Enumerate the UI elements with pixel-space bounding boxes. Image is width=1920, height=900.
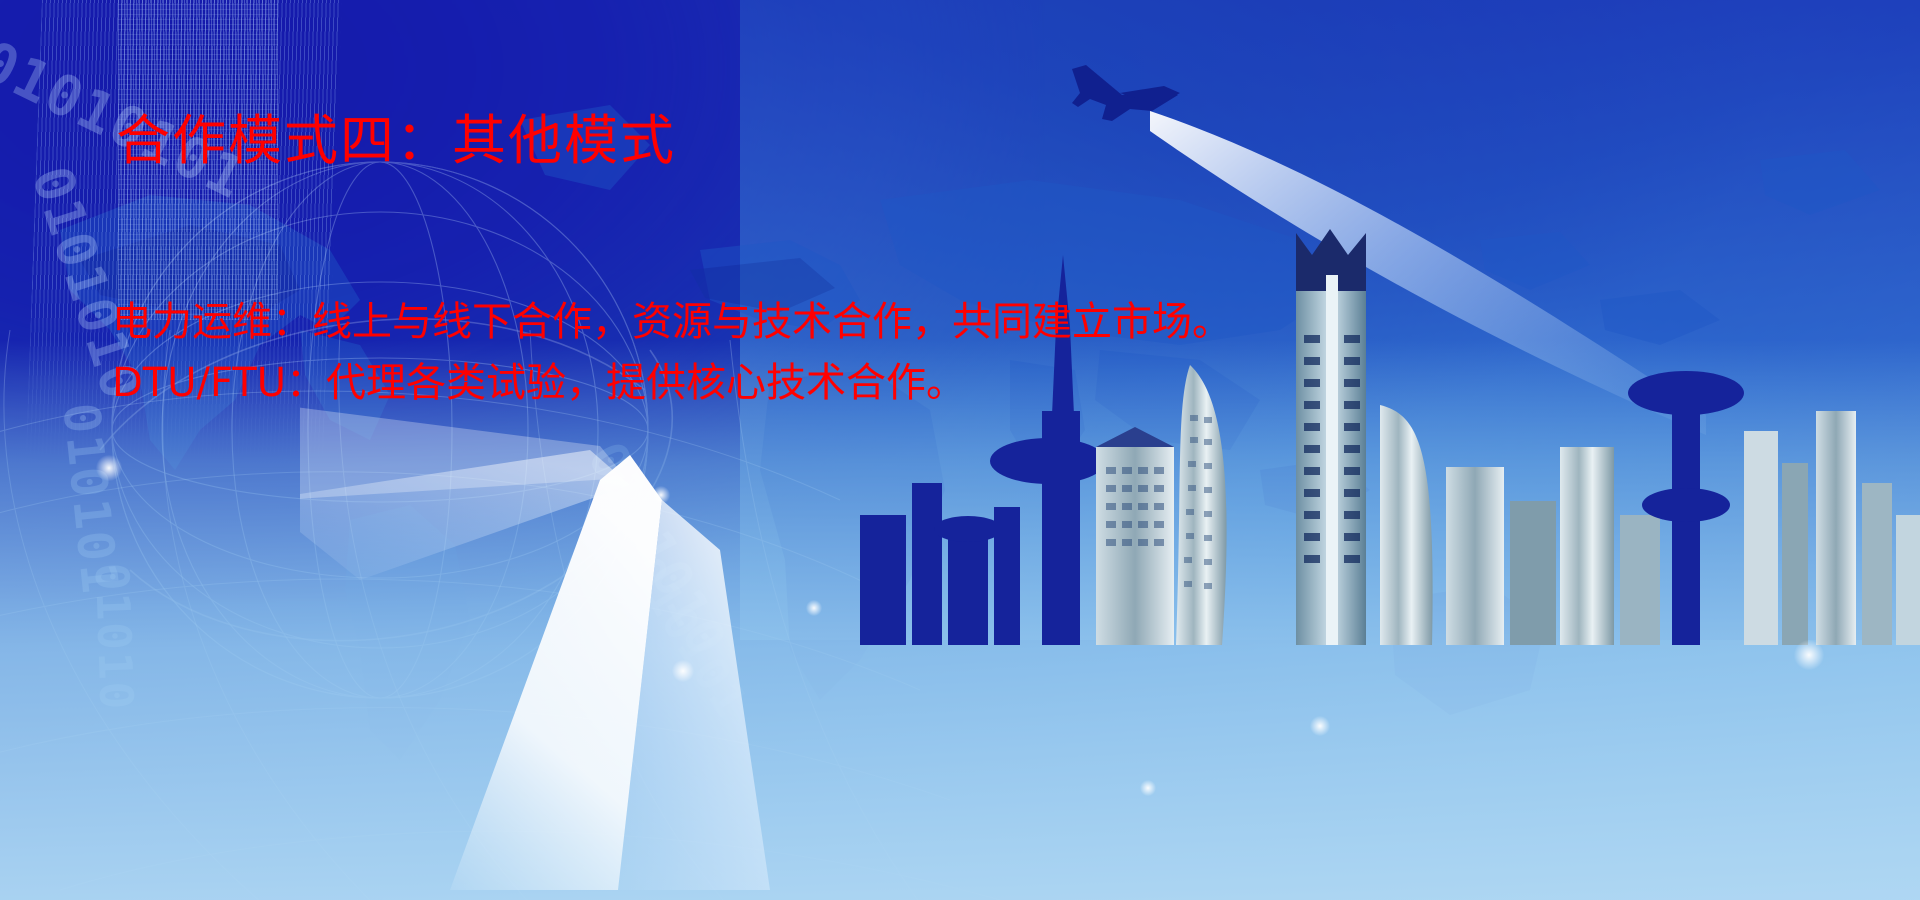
bokeh-dot bbox=[1794, 640, 1824, 670]
body-line-2: DTU/FTU：代理各类试验，提供核心技术合作。 bbox=[112, 353, 1232, 414]
cityscape-skyline-graphic bbox=[860, 215, 1920, 645]
airplane-icon bbox=[1060, 55, 1190, 135]
bokeh-dot bbox=[1140, 780, 1156, 796]
bokeh-dot bbox=[96, 455, 122, 481]
bokeh-dot bbox=[1310, 716, 1330, 736]
slide-body-text: 电力运维：线上与线下合作，资源与技术合作，共同建立市场。 DTU/FTU：代理各… bbox=[112, 292, 1232, 414]
presentation-slide: 01010101 0101010 010101 01010 0101010 01… bbox=[0, 0, 1920, 900]
bokeh-dot bbox=[652, 486, 670, 504]
bokeh-dot bbox=[672, 660, 694, 682]
bokeh-dot bbox=[806, 600, 822, 616]
slide-title: 合作模式四：其他模式 bbox=[116, 110, 676, 172]
body-line-1: 电力运维：线上与线下合作，资源与技术合作，共同建立市场。 bbox=[112, 292, 1232, 353]
